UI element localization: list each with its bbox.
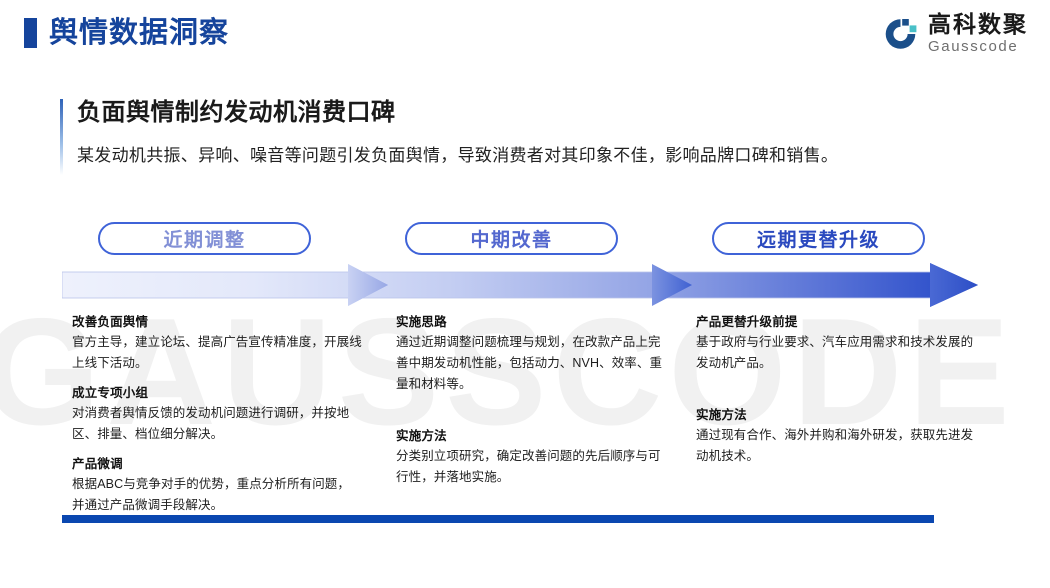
detail-block: 产品微调 根据ABC与竞争对手的优势，重点分析所有问题，并通过产品微调手段解决。: [72, 454, 362, 516]
detail-block: 实施方法 通过现有合作、海外并购和海外研发，获取先进发动机技术。: [696, 405, 974, 467]
block-spacer: [396, 404, 671, 426]
phase-pill-label: 远期更替升级: [757, 225, 880, 252]
phase-pill-label: 中期改善: [470, 225, 552, 252]
detail-body: 官方主导，建立论坛、提高广告宣传精准度，开展线上线下活动。: [72, 332, 362, 374]
detail-body: 根据ABC与竞争对手的优势，重点分析所有问题，并通过产品微调手段解决。: [72, 474, 362, 516]
detail-body: 基于政府与行业要求、汽车应用需求和技术发展的发动机产品。: [696, 332, 974, 374]
column-long-term: 产品更替升级前提 基于政府与行业要求、汽车应用需求和技术发展的发动机产品。 实施…: [696, 312, 974, 476]
logo-text-cn: 高科数聚: [928, 12, 1028, 37]
detail-heading: 产品更替升级前提: [696, 312, 974, 332]
phase-pill-near-term[interactable]: 近期调整: [98, 222, 311, 255]
phase-pill-mid-term[interactable]: 中期改善: [405, 222, 618, 255]
detail-body: 通过现有合作、海外并购和海外研发，获取先进发动机技术。: [696, 425, 974, 467]
logo-wordmark: 高科数聚 Gausscode: [928, 12, 1028, 55]
block-spacer: [696, 383, 974, 405]
brand-logo: 高科数聚 Gausscode: [883, 12, 1028, 55]
column-mid-term: 实施思路 通过近期调整问题梳理与规划，在改款产品上完善中期发动机性能，包括动力、…: [396, 312, 671, 497]
logo-text-en: Gausscode: [928, 38, 1018, 55]
detail-block: 实施思路 通过近期调整问题梳理与规划，在改款产品上完善中期发动机性能，包括动力、…: [396, 312, 671, 395]
detail-heading: 实施思路: [396, 312, 671, 332]
header-accent-bar: [24, 18, 37, 48]
detail-block: 产品更替升级前提 基于政府与行业要求、汽车应用需求和技术发展的发动机产品。: [696, 312, 974, 374]
headline-main: 负面舆情制约发动机消费口碑: [77, 96, 980, 130]
detail-heading: 成立专项小组: [72, 383, 362, 403]
timeline-arrow: [62, 263, 982, 307]
phase-pill-label: 近期调整: [163, 225, 245, 252]
column-near-term: 改善负面舆情 官方主导，建立论坛、提高广告宣传精准度，开展线上线下活动。 成立专…: [72, 312, 362, 525]
detail-heading: 实施方法: [696, 405, 974, 425]
headline-accent-rule: [60, 99, 63, 175]
detail-heading: 改善负面舆情: [72, 312, 362, 332]
detail-heading: 实施方法: [396, 426, 671, 446]
page-title: 舆情数据洞察: [49, 12, 229, 54]
headline-block: 负面舆情制约发动机消费口碑 某发动机共振、异响、噪音等问题引发负面舆情，导致消费…: [60, 96, 980, 169]
detail-heading: 产品微调: [72, 454, 362, 474]
detail-body: 通过近期调整问题梳理与规划，在改款产品上完善中期发动机性能，包括动力、NVH、效…: [396, 332, 671, 395]
slide-canvas: GAUSSCODE 舆情数据洞察 高科数聚 Gausscode 负面舆情制约发动…: [0, 0, 1050, 588]
detail-block: 实施方法 分类别立项研究，确定改善问题的先后顺序与可行性，并落地实施。: [396, 426, 671, 488]
detail-block: 成立专项小组 对消费者舆情反馈的发动机问题进行调研，并按地区、排量、档位细分解决…: [72, 383, 362, 445]
gausscode-logo-icon: [883, 16, 919, 52]
phase-pill-long-term[interactable]: 远期更替升级: [712, 222, 925, 255]
headline-sub: 某发动机共振、异响、噪音等问题引发负面舆情，导致消费者对其印象不佳，影响品牌口碑…: [77, 143, 980, 169]
detail-body: 分类别立项研究，确定改善问题的先后顺序与可行性，并落地实施。: [396, 446, 671, 488]
footer-bar: [62, 515, 934, 523]
detail-body: 对消费者舆情反馈的发动机问题进行调研，并按地区、排量、档位细分解决。: [72, 403, 362, 445]
detail-block: 改善负面舆情 官方主导，建立论坛、提高广告宣传精准度，开展线上线下活动。: [72, 312, 362, 374]
